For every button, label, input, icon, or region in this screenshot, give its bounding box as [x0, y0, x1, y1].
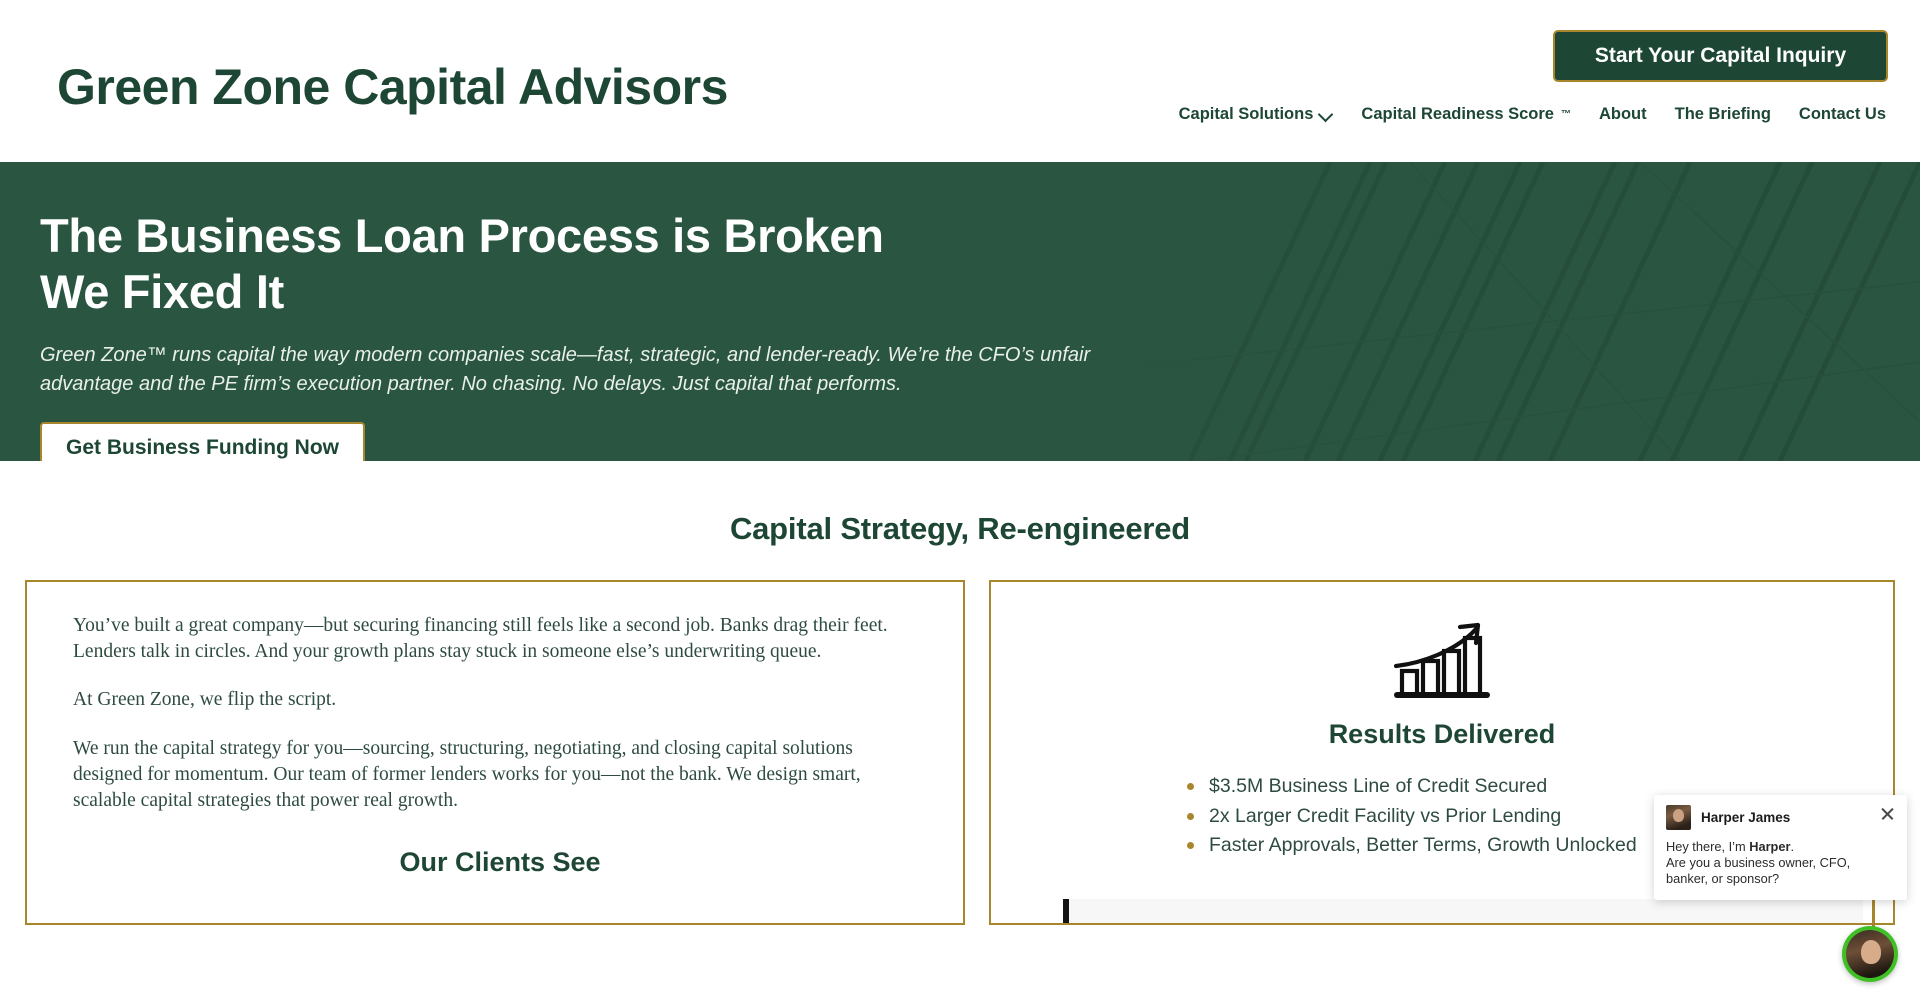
page-root: Green Zone Capital Advisors Start Your C…: [0, 0, 1920, 993]
hero-content: The Business Loan Process is Broken We F…: [0, 162, 1920, 461]
trademark-icon: ™: [1561, 109, 1571, 120]
chat-greeting-prefix: Hey there, I’m: [1666, 839, 1749, 854]
hero-headline: The Business Loan Process is Broken We F…: [40, 162, 1920, 321]
section-title: Capital Strategy, Re-engineered: [0, 461, 1920, 547]
growth-bar-chart-icon: [1021, 621, 1863, 703]
nav-item-about[interactable]: About: [1599, 105, 1647, 124]
cards-row: You’ve built a great company—but securin…: [0, 547, 1920, 925]
results-bullet-item: 2x Larger Credit Facility vs Prior Lendi…: [1187, 802, 1722, 832]
nav-item-contact-us[interactable]: Contact Us: [1799, 105, 1886, 124]
hero-section: The Business Loan Process is Broken We F…: [0, 162, 1920, 461]
story-paragraph-3: We run the capital strategy for you—sour…: [73, 736, 927, 813]
nav-label-capital-readiness-score: Capital Readiness Score: [1361, 105, 1554, 124]
story-paragraph-2: At Green Zone, we flip the script.: [73, 687, 927, 713]
chat-launcher-button[interactable]: [1842, 926, 1898, 982]
chat-agent-avatar: [1846, 930, 1894, 978]
nav-item-capital-readiness-score[interactable]: Capital Readiness Score™: [1361, 105, 1571, 124]
chat-popup-header: Harper James: [1666, 805, 1895, 830]
nav-label-the-briefing: The Briefing: [1675, 105, 1771, 124]
chat-greeting-text: Hey there, I’m Harper. Are you a busines…: [1666, 839, 1895, 887]
site-logo-text[interactable]: Green Zone Capital Advisors: [57, 58, 728, 116]
close-icon[interactable]: [1879, 806, 1895, 822]
get-business-funding-label: Get Business Funding Now: [66, 436, 339, 460]
hero-headline-line-2: We Fixed It: [40, 264, 1920, 320]
start-capital-inquiry-button[interactable]: Start Your Capital Inquiry: [1553, 30, 1888, 82]
results-delivered-heading: Results Delivered: [1021, 719, 1863, 750]
capital-strategy-section: Capital Strategy, Re-engineered You’ve b…: [0, 461, 1920, 925]
main-navigation: Capital Solutions Capital Readiness Scor…: [1179, 105, 1886, 124]
chat-greeting-name: Harper: [1749, 839, 1790, 854]
nav-item-capital-solutions[interactable]: Capital Solutions: [1179, 105, 1334, 124]
chat-greeting-question: Are you a business owner, CFO, banker, o…: [1666, 855, 1850, 886]
nav-label-capital-solutions: Capital Solutions: [1179, 105, 1314, 124]
testimonial-quote-strip: [1063, 899, 1863, 923]
chat-agent-name: Harper James: [1701, 810, 1790, 825]
hero-subheadline: Green Zone™ runs capital the way modern …: [40, 341, 1150, 399]
nav-item-the-briefing[interactable]: The Briefing: [1675, 105, 1771, 124]
results-bullet-item: $3.5M Business Line of Credit Secured: [1187, 772, 1722, 802]
story-card: You’ve built a great company—but securin…: [25, 580, 965, 925]
hero-headline-line-1: The Business Loan Process is Broken: [40, 209, 884, 262]
start-capital-inquiry-label: Start Your Capital Inquiry: [1595, 44, 1846, 68]
get-business-funding-button[interactable]: Get Business Funding Now: [40, 422, 365, 461]
avatar: [1666, 805, 1691, 830]
story-paragraph-1: You’ve built a great company—but securin…: [73, 613, 927, 664]
chevron-down-icon: [1320, 108, 1333, 121]
nav-label-contact-us: Contact Us: [1799, 105, 1886, 124]
results-bullet-list: $3.5M Business Line of Credit Secured 2x…: [1162, 772, 1722, 861]
our-clients-see-heading: Our Clients See: [73, 847, 927, 878]
chat-greeting-suffix: .: [1790, 839, 1794, 854]
site-header: Green Zone Capital Advisors Start Your C…: [0, 0, 1920, 162]
nav-label-about: About: [1599, 105, 1647, 124]
chat-greeting-popup: Harper James Hey there, I’m Harper. Are …: [1654, 795, 1907, 900]
results-bullet-item: Faster Approvals, Better Terms, Growth U…: [1187, 831, 1722, 861]
